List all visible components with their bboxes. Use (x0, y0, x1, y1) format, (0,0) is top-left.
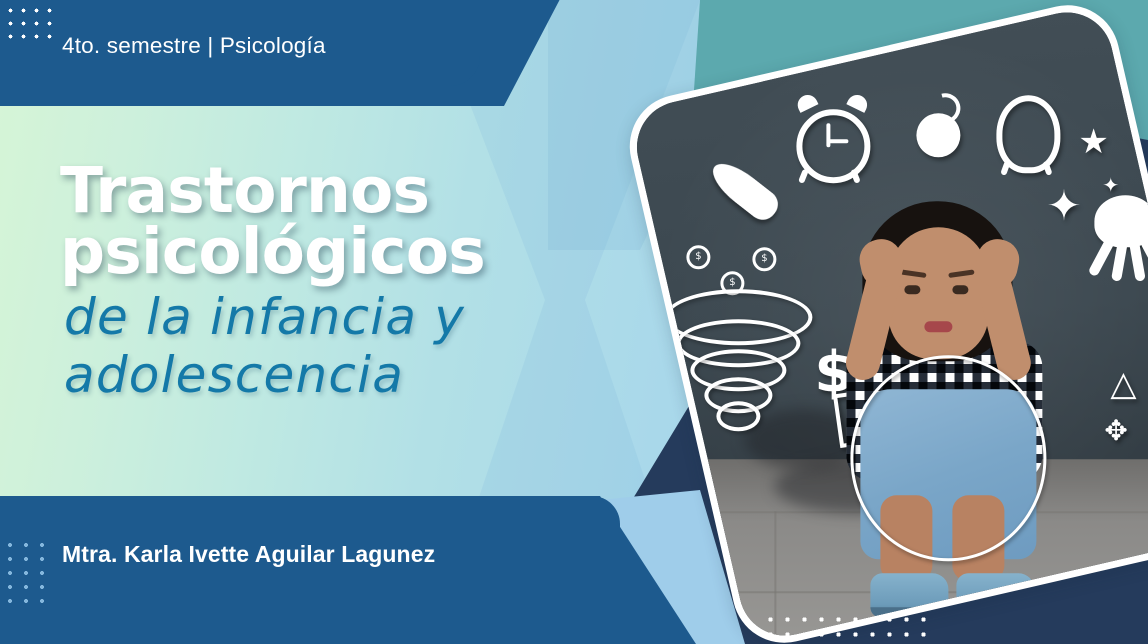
semester-subject-label: 4to. semestre | Psicología (62, 33, 326, 59)
rocket-icon (705, 155, 783, 225)
page-subtitle: de la infancia y adolescencia (64, 288, 620, 404)
page-title-line-2: psicológicos (60, 221, 620, 282)
face (888, 227, 988, 359)
photo-card: ★ ✦ ✦ $ $ $ (676, 44, 1148, 604)
barbed-wire-icon (850, 355, 1046, 561)
page-subtitle-line-2: adolescencia (64, 346, 620, 404)
eye-left (904, 285, 920, 294)
title-slide: ★ ✦ ✦ $ $ $ (0, 0, 1148, 644)
page-title-line-1: Trastornos (60, 160, 620, 221)
paper-plane-icon: △ (1110, 367, 1136, 401)
page-subtitle-line-1: de la infancia y (64, 288, 620, 346)
presenter-name: Mtra. Karla Ivette Aguilar Lagunez (62, 541, 435, 568)
footer-band (0, 496, 620, 644)
page-title: Trastornos psicológicos (60, 160, 620, 282)
dot-grid-icon-left-footer (2, 538, 44, 604)
dot-grid-icon-bottom-right (762, 612, 932, 642)
move-arrows-icon: ✥ (1104, 417, 1127, 445)
starfish-icon: ✦ (1046, 185, 1081, 227)
star-icon: ★ (1078, 125, 1108, 159)
eye-right (952, 285, 968, 294)
dot-grid-icon-top-left (4, 4, 60, 44)
mouth (924, 321, 952, 332)
headline-block: Trastornos psicológicos de la infancia y… (60, 160, 620, 404)
photo-image: ★ ✦ ✦ $ $ $ (628, 3, 1148, 644)
photo-clip: ★ ✦ ✦ $ $ $ (628, 3, 1148, 644)
star-small-icon: ✦ (1102, 175, 1119, 195)
